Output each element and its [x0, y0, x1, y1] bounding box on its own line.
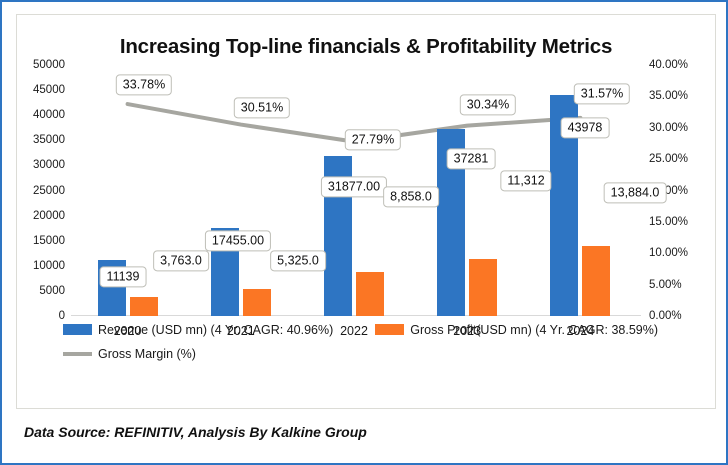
- data-label-gross-margin: 30.51%: [234, 97, 290, 118]
- data-label-gross-profit: 8,858.0: [383, 186, 439, 207]
- legend-color-swatch-icon: [375, 324, 404, 335]
- bar-gross-profit: [469, 259, 497, 316]
- secondary-y-axis-tick: 30.00%: [649, 122, 688, 134]
- chart-frame: Increasing Top-line financials & Profita…: [0, 0, 728, 465]
- chart-legend: Revenue (USD mn) (4 Yr. CAGR: 40.96%)Gro…: [63, 322, 683, 370]
- secondary-y-axis-tick: 15.00%: [649, 216, 688, 228]
- bar-gross-profit: [130, 297, 158, 316]
- legend-item[interactable]: Revenue (USD mn) (4 Yr. CAGR: 40.96%): [63, 323, 333, 337]
- chart-card: Increasing Top-line financials & Profita…: [16, 14, 716, 409]
- y-axis-tick: 25000: [33, 185, 65, 197]
- data-label-gross-profit: 5,325.0: [270, 250, 326, 271]
- y-axis-tick: 35000: [33, 134, 65, 146]
- secondary-y-axis-tick: 35.00%: [649, 90, 688, 102]
- y-axis-tick: 10000: [33, 260, 65, 272]
- secondary-y-axis-tick: 5.00%: [649, 279, 682, 291]
- data-label-gross-margin: 31.57%: [574, 83, 630, 104]
- footer-source: Data Source: REFINITIV, Analysis By Kalk…: [24, 424, 367, 440]
- data-label-gross-margin: 33.78%: [116, 74, 172, 95]
- y-axis-tick: 0: [59, 310, 65, 322]
- legend-item[interactable]: Gross Profit(USD mn) (4 Yr. CAGR: 38.59%…: [375, 323, 658, 337]
- data-label-gross-margin: 27.79%: [345, 129, 401, 150]
- chart-title: Increasing Top-line financials & Profita…: [17, 35, 715, 59]
- legend-label: Gross Margin (%): [98, 347, 196, 361]
- bar-gross-profit: [243, 289, 271, 316]
- legend-item[interactable]: Gross Margin (%): [63, 347, 196, 361]
- y-axis-tick: 40000: [33, 109, 65, 121]
- legend-label: Gross Profit(USD mn) (4 Yr. CAGR: 38.59%…: [410, 323, 658, 337]
- legend-row: Gross Margin (%): [63, 346, 683, 361]
- secondary-y-axis-tick: 0.00%: [649, 310, 682, 322]
- y-axis-tick: 45000: [33, 84, 65, 96]
- data-label-revenue: 37281: [447, 148, 496, 169]
- plot-area: 0500010000150002000025000300003500040000…: [71, 65, 637, 316]
- secondary-y-axis-tick: 40.00%: [649, 59, 688, 71]
- data-label-revenue: 11139: [100, 266, 147, 287]
- legend-line-swatch-icon: [63, 352, 92, 356]
- data-label-gross-profit: 11,312: [500, 170, 551, 191]
- data-label-revenue: 31877.00: [321, 176, 387, 197]
- secondary-y-axis-tick: 25.00%: [649, 153, 688, 165]
- data-label-gross-profit: 3,763.0: [153, 250, 209, 271]
- y-axis-tick: 50000: [33, 59, 65, 71]
- legend-label: Revenue (USD mn) (4 Yr. CAGR: 40.96%): [98, 323, 333, 337]
- data-label-gross-profit: 13,884.0: [604, 182, 667, 203]
- y-axis-tick: 20000: [33, 210, 65, 222]
- y-axis-tick: 15000: [33, 235, 65, 247]
- legend-color-swatch-icon: [63, 324, 92, 335]
- legend-row: Revenue (USD mn) (4 Yr. CAGR: 40.96%)Gro…: [63, 322, 683, 337]
- data-label-revenue: 17455.00: [205, 230, 271, 251]
- secondary-y-axis-tick: 10.00%: [649, 247, 688, 259]
- data-label-gross-margin: 30.34%: [460, 94, 516, 115]
- y-axis-tick: 5000: [39, 285, 65, 297]
- y-axis-tick: 30000: [33, 159, 65, 171]
- bar-gross-profit: [356, 272, 384, 316]
- bar-gross-profit: [582, 246, 610, 316]
- data-label-revenue: 43978: [561, 117, 610, 138]
